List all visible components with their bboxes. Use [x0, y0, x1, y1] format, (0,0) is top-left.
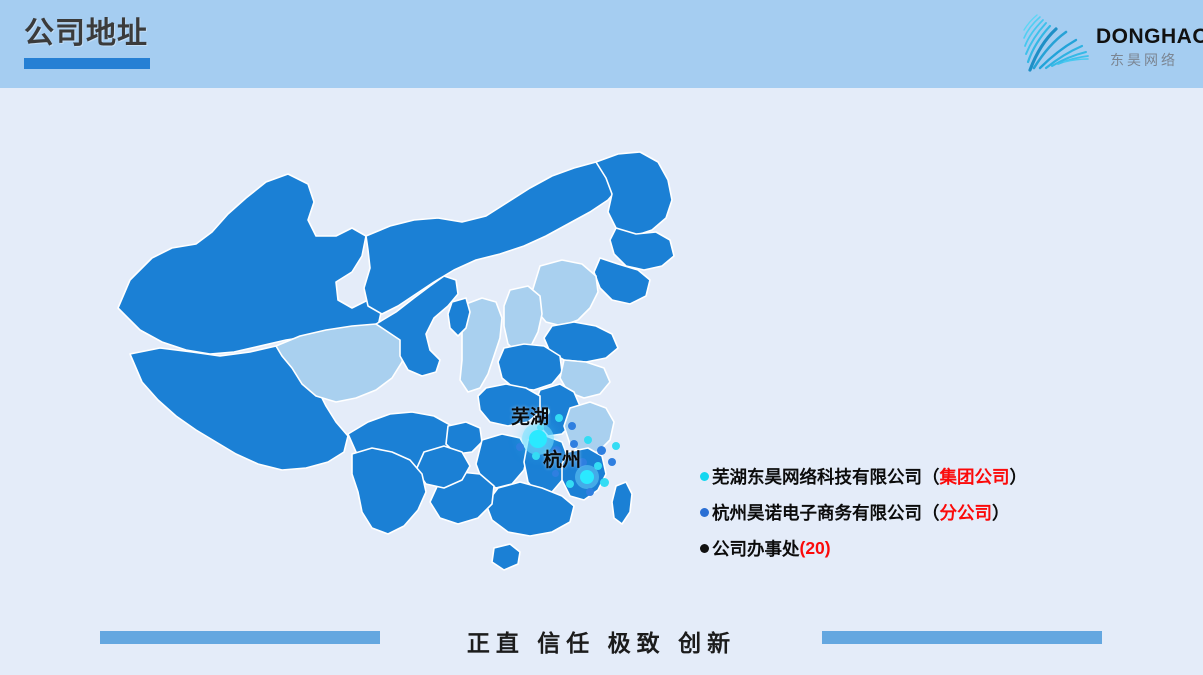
china-map-svg	[100, 140, 720, 610]
legend-close-paren: ）	[992, 500, 1010, 525]
logo-text-cn: 东昊网络	[1110, 50, 1178, 70]
legend-open-paren: （	[922, 464, 940, 489]
legend-offices-count: (20)	[800, 538, 831, 559]
region-guangdong	[486, 482, 574, 536]
logo-text-en: DONGHAO	[1096, 25, 1203, 49]
region-hainan	[492, 544, 520, 570]
page-title-wrapper: 公司地址	[24, 16, 150, 69]
address-legend: 芜湖东昊网络科技有限公司 （ 集团公司 ） 杭州昊诺电子商务有限公司 （ 分公司…	[700, 458, 1120, 566]
bullet-black-icon	[700, 544, 709, 553]
office-marker	[600, 478, 609, 487]
legend-badge-group: 集团公司	[940, 464, 1010, 489]
legend-open-paren: （	[922, 500, 940, 525]
city-label-wuhu: 芜湖	[511, 402, 549, 429]
china-map: 芜湖 杭州	[100, 140, 720, 610]
office-marker	[594, 462, 602, 470]
office-marker	[597, 446, 606, 455]
legend-close-paren: ）	[1010, 464, 1028, 489]
legend-company-name: 杭州昊诺电子商务有限公司	[712, 500, 922, 525]
office-marker	[516, 443, 524, 451]
slide-header: 公司地址 DONGHAO	[0, 0, 1203, 88]
legend-offices-label: 公司办事处	[712, 536, 800, 561]
feather-fan-icon	[1022, 10, 1092, 74]
office-marker	[568, 422, 576, 430]
office-marker	[608, 458, 616, 466]
slide-company-address: 公司地址 DONGHAO	[0, 0, 1203, 675]
region-taiwan	[612, 482, 632, 524]
city-label-hangzhou: 杭州	[543, 445, 581, 472]
legend-company-name: 芜湖东昊网络科技有限公司	[712, 464, 922, 489]
office-marker	[586, 488, 594, 496]
legend-item-offices: 公司办事处 (20)	[700, 530, 1120, 566]
title-underline-bar	[24, 58, 150, 69]
footer-bar-right	[822, 631, 1102, 644]
office-marker	[612, 442, 620, 450]
legend-item-group-company: 芜湖东昊网络科技有限公司 （ 集团公司 ）	[700, 458, 1120, 494]
company-logo: DONGHAO 东昊网络	[1018, 8, 1193, 76]
page-title: 公司地址	[24, 16, 150, 52]
office-marker	[584, 436, 592, 444]
region-henan	[498, 344, 562, 390]
legend-badge-branch: 分公司	[940, 500, 993, 525]
office-marker	[532, 452, 540, 460]
office-marker	[555, 414, 563, 422]
bullet-cyan-icon	[700, 472, 709, 481]
legend-item-branch-company: 杭州昊诺电子商务有限公司 （ 分公司 ）	[700, 494, 1120, 530]
bullet-blue-icon	[700, 508, 709, 517]
branch-marker-hangzhou	[580, 470, 594, 484]
office-marker	[566, 480, 574, 488]
